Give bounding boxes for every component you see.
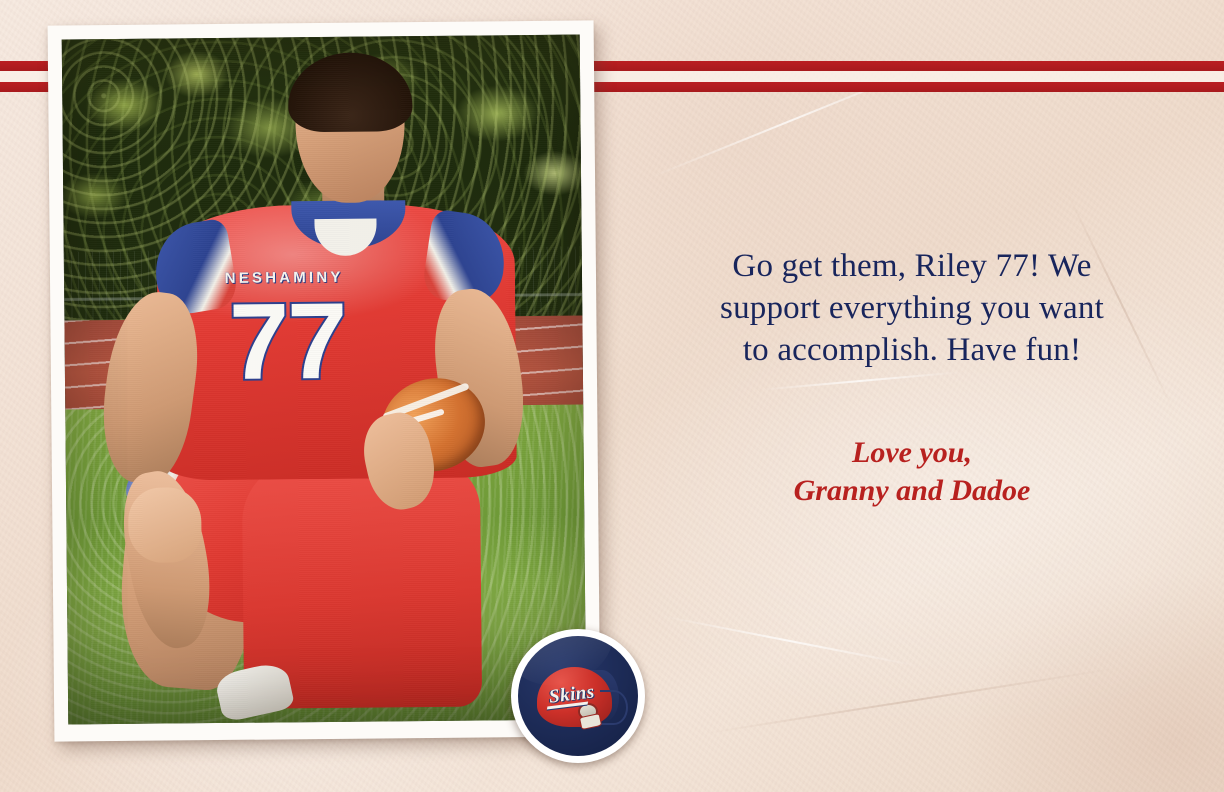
crease-line: [760, 371, 959, 390]
player-figure: NESHAMINY 77: [62, 35, 587, 725]
player-fist: [128, 487, 201, 563]
message-line: to accomplish. Have fun!: [622, 329, 1202, 371]
message-line: support everything you want: [622, 287, 1202, 329]
signature-line: Granny and Dadoe: [622, 472, 1202, 510]
player-photo: NESHAMINY 77: [62, 35, 587, 725]
message-line: Go get them, Riley 77! We: [622, 245, 1202, 287]
crease-line: [662, 615, 918, 667]
tribute-card: NESHAMINY 77 Skins: [0, 0, 1224, 792]
team-logo-badge: Skins: [511, 629, 645, 763]
player-hair: [288, 53, 413, 133]
helmet-facemask-icon: [600, 690, 628, 725]
badge-inner-disc: Skins: [518, 636, 638, 756]
crease-line: [702, 667, 1117, 735]
signature-line: Love you,: [622, 434, 1202, 472]
helmet-chinstrap-icon: [579, 713, 602, 730]
photo-frame: NESHAMINY 77: [48, 20, 601, 741]
signature-block: Love you, Granny and Dadoe: [622, 434, 1202, 510]
message-block: Go get them, Riley 77! We support everyt…: [622, 245, 1202, 371]
jersey-number: 77: [229, 287, 346, 396]
